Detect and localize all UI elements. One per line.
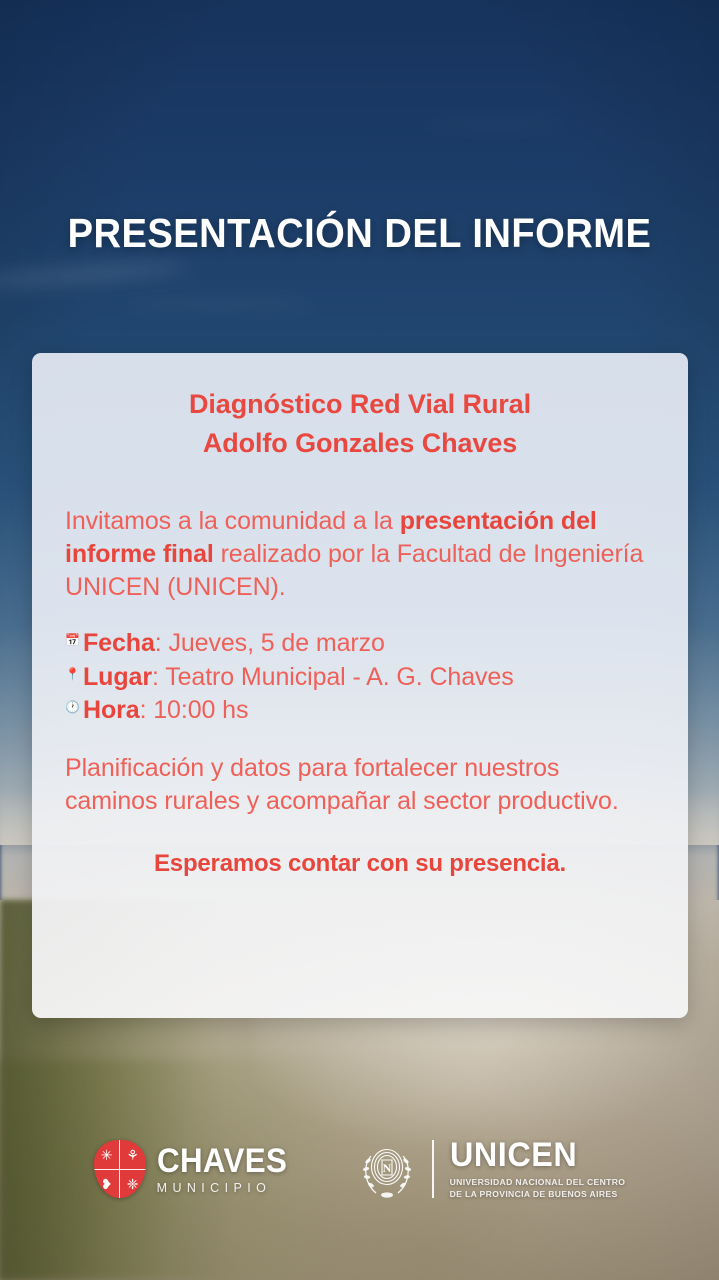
logo-divider <box>432 1140 433 1198</box>
footer-logos: ✳ ⚘ ❥ ❈ CHAVES MUNICIPIO N <box>0 1138 719 1201</box>
unicen-subtitle-line-2: DE LA PROVINCIA DE BUENOS AIRES <box>450 1189 626 1201</box>
closing-line: Esperamos contar con su presencia. <box>65 850 655 878</box>
detail-label-hora: Hora <box>83 696 140 724</box>
invitation-card: Diagnóstico Red Vial Rural Adolfo Gonzal… <box>32 353 688 1018</box>
shield-symbol-4: ❈ <box>120 1169 146 1198</box>
chaves-name: CHAVES <box>157 1144 287 1178</box>
chaves-wordmark: CHAVES MUNICIPIO <box>157 1144 299 1195</box>
clock-icon: 🕐 <box>65 701 83 713</box>
detail-value-hora: : 10:00 hs <box>140 696 249 724</box>
outro-paragraph: Planificación y datos para fortalecer nu… <box>65 752 655 818</box>
shield-symbol-3: ❥ <box>94 1169 120 1198</box>
unicen-subtitle-line-1: UNIVERSIDAD NACIONAL DEL CENTRO <box>450 1177 626 1189</box>
location-pin-icon: 📍 <box>65 668 83 680</box>
intro-paragraph: Invitamos a la comunidad a la presentaci… <box>65 505 655 603</box>
chaves-shield-icon: ✳ ⚘ ❥ ❈ <box>94 1140 146 1198</box>
card-title-line-2: Adolfo Gonzales Chaves <box>65 424 655 463</box>
intro-text-before: Invitamos a la comunidad a la <box>65 507 400 535</box>
card-title-line-1: Diagnóstico Red Vial Rural <box>65 385 655 424</box>
unicen-logo: N UNICEN <box>358 1138 625 1201</box>
detail-row-fecha: 📅 Fecha: Jueves, 5 de marzo <box>65 627 655 660</box>
detail-value-fecha: : Jueves, 5 de marzo <box>155 629 385 657</box>
detail-row-hora: 🕐 Hora: 10:00 hs <box>65 694 655 727</box>
detail-label-lugar: Lugar <box>83 663 152 691</box>
shield-horizontal-divider <box>94 1169 146 1171</box>
detail-row-lugar: 📍 Lugar: Teatro Municipal - A. G. Chaves <box>65 661 655 694</box>
unicen-name: UNICEN <box>450 1138 617 1172</box>
detail-label-fecha: Fecha <box>83 629 155 657</box>
unicen-wordmark: UNICEN UNIVERSIDAD NACIONAL DEL CENTRO D… <box>450 1138 626 1201</box>
shield-symbol-2: ⚘ <box>120 1140 146 1169</box>
event-details-list: 📅 Fecha: Jueves, 5 de marzo 📍 Lugar: Tea… <box>65 627 655 727</box>
chaves-subtitle: MUNICIPIO <box>157 1182 299 1195</box>
unicen-crest-icon: N <box>358 1138 416 1200</box>
card-title: Diagnóstico Red Vial Rural Adolfo Gonzal… <box>65 385 655 462</box>
shield-symbol-1: ✳ <box>94 1140 120 1169</box>
detail-value-lugar: : Teatro Municipal - A. G. Chaves <box>152 663 514 691</box>
page-title: PRESENTACIÓN DEL INFORME <box>25 210 694 257</box>
unicen-subtitle: UNIVERSIDAD NACIONAL DEL CENTRO DE LA PR… <box>450 1177 626 1201</box>
chaves-municipio-logo: ✳ ⚘ ❥ ❈ CHAVES MUNICIPIO <box>94 1140 299 1198</box>
svg-text:N: N <box>383 1161 392 1175</box>
calendar-icon: 📅 <box>65 634 83 646</box>
